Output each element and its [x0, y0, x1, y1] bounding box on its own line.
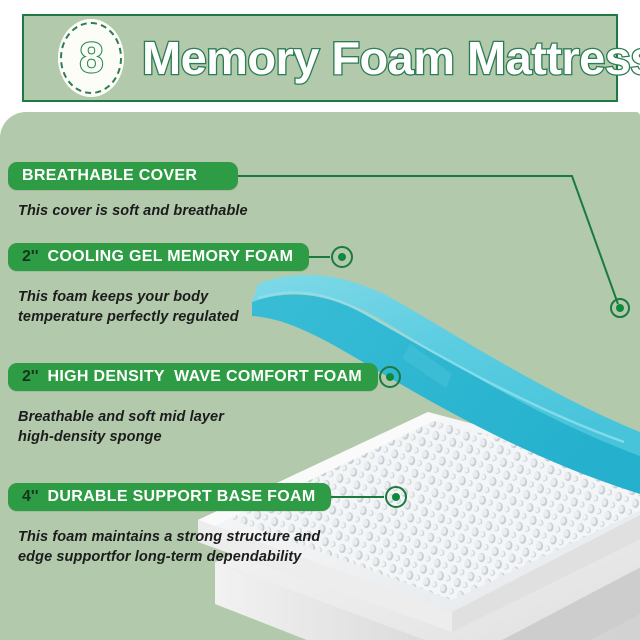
description-wave-comfort-foam: Breathable and soft mid layer high-densi… [8, 407, 378, 447]
content-panel: BREATHABLE COVER This cover is soft and … [0, 112, 640, 640]
description-base-foam: This foam maintains a strong structure a… [8, 527, 331, 567]
description-breathable-cover: This cover is soft and breathable [8, 201, 248, 221]
infographic-page: BREATHABLE COVER This cover is soft and … [0, 0, 640, 640]
label-pill-wave-comfort-foam[interactable]: 2'' HIGH DENSITY WAVE COMFORT FOAM [8, 363, 378, 391]
pill-label-text: HIGH DENSITY WAVE COMFORT FOAM [48, 368, 363, 386]
callout-base-foam: 4'' DURABLE SUPPORT BASE FOAM This foam … [8, 483, 331, 567]
badge-number-text: 8 [80, 37, 103, 80]
pill-label-text: BREATHABLE COVER [22, 167, 197, 185]
step-number-badge: 8 [58, 19, 124, 97]
callout-wave-comfort-foam: 2'' HIGH DENSITY WAVE COMFORT FOAM Breat… [8, 363, 378, 447]
label-pill-cooling-gel-memory-foam[interactable]: 2'' COOLING GEL MEMORY FOAM [8, 243, 309, 271]
page-title: Memory Foam Mattress [142, 31, 640, 85]
header-banner: 8 Memory Foam Mattress [22, 14, 618, 102]
pill-thickness-value: 2'' [22, 248, 39, 266]
callout-cooling-gel-memory-foam: 2'' COOLING GEL MEMORY FOAM This foam ke… [8, 243, 309, 327]
pill-label-text: COOLING GEL MEMORY FOAM [48, 248, 294, 266]
pill-thickness-value: 2'' [22, 368, 39, 386]
label-pill-breathable-cover[interactable]: BREATHABLE COVER [8, 162, 238, 190]
description-cooling-gel-memory-foam: This foam keeps your body temperature pe… [8, 287, 309, 327]
callout-breathable-cover: BREATHABLE COVER This cover is soft and … [8, 162, 248, 221]
label-pill-base-foam[interactable]: 4'' DURABLE SUPPORT BASE FOAM [8, 483, 331, 511]
pill-thickness-value: 4'' [22, 488, 39, 506]
pill-label-text: DURABLE SUPPORT BASE FOAM [48, 488, 316, 506]
